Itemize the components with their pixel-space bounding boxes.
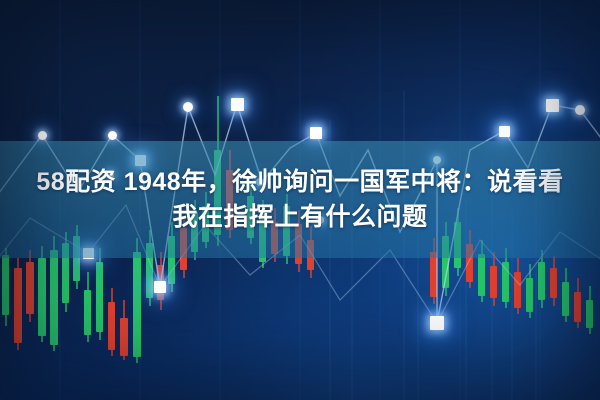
banner-image: 58配资 1948年，徐帅询问一国军中将：说看看 我在指挥上有什么问题 — [0, 0, 600, 400]
headline-line-2: 我在指挥上有什么问题 — [0, 200, 600, 235]
node-square — [430, 316, 444, 330]
node-square — [310, 127, 322, 139]
node-circle — [183, 102, 193, 112]
node-circle — [38, 131, 47, 140]
node-circle — [575, 105, 585, 115]
node-square — [231, 98, 244, 111]
node-square — [154, 281, 166, 293]
headline: 58配资 1948年，徐帅询问一国军中将：说看看 我在指挥上有什么问题 — [0, 165, 600, 235]
node-circle — [108, 131, 117, 140]
node-square — [546, 99, 559, 112]
headline-line-1: 58配资 1948年，徐帅询问一国军中将：说看看 — [0, 165, 600, 200]
node-square — [499, 126, 510, 137]
